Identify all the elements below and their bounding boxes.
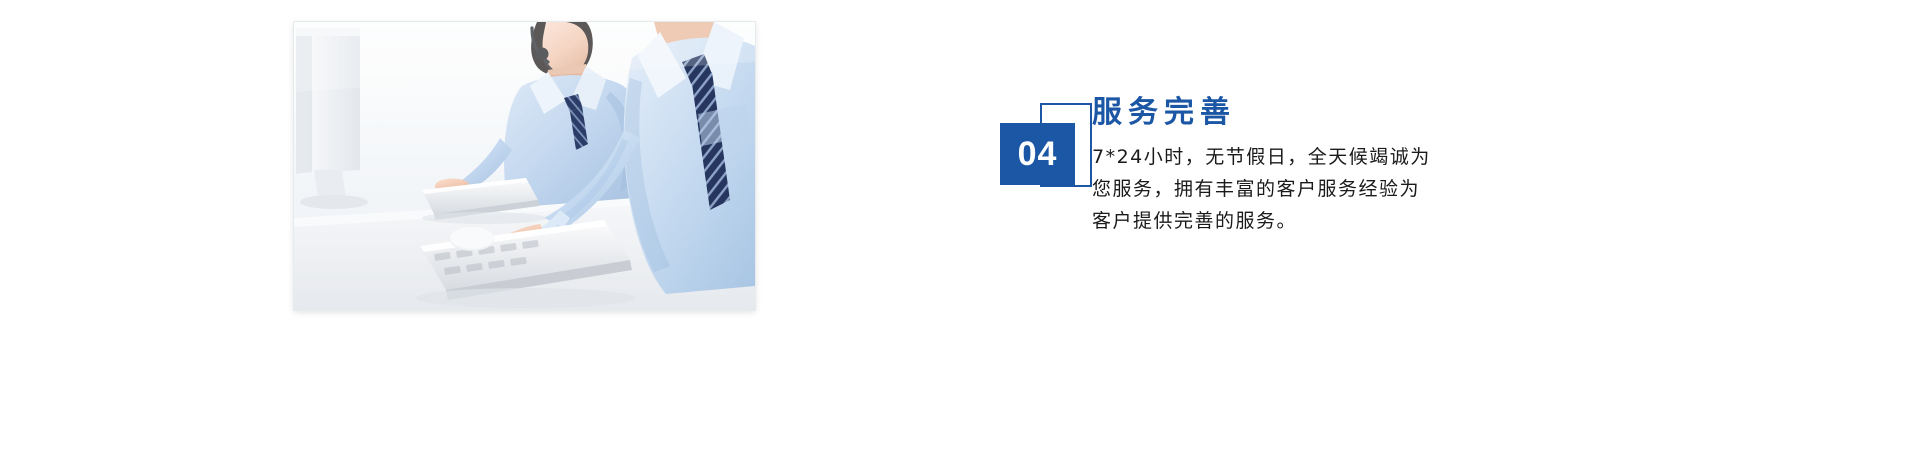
description-line: 您服务，拥有丰富的客户服务经验为 [1092, 173, 1512, 205]
photo-illustration [294, 22, 755, 310]
feature-title: 服务完善 [1092, 95, 1512, 131]
description-line: 客户提供完善的服务。 [1092, 205, 1512, 237]
customer-service-team-photo [294, 22, 755, 310]
step-number-badge: 04 [1000, 103, 1100, 198]
feature-banner: 04 服务完善 7*24小时，无节假日，全天候竭诚为 您服务，拥有丰富的客户服务… [0, 0, 1920, 452]
description-line: 7*24小时，无节假日，全天候竭诚为 [1092, 141, 1512, 173]
feature-text-column: 服务完善 7*24小时，无节假日，全天候竭诚为 您服务，拥有丰富的客户服务经验为… [1092, 95, 1512, 237]
badge-number: 04 [1000, 123, 1075, 185]
feature-description: 7*24小时，无节假日，全天候竭诚为 您服务，拥有丰富的客户服务经验为 客户提供… [1092, 141, 1512, 237]
